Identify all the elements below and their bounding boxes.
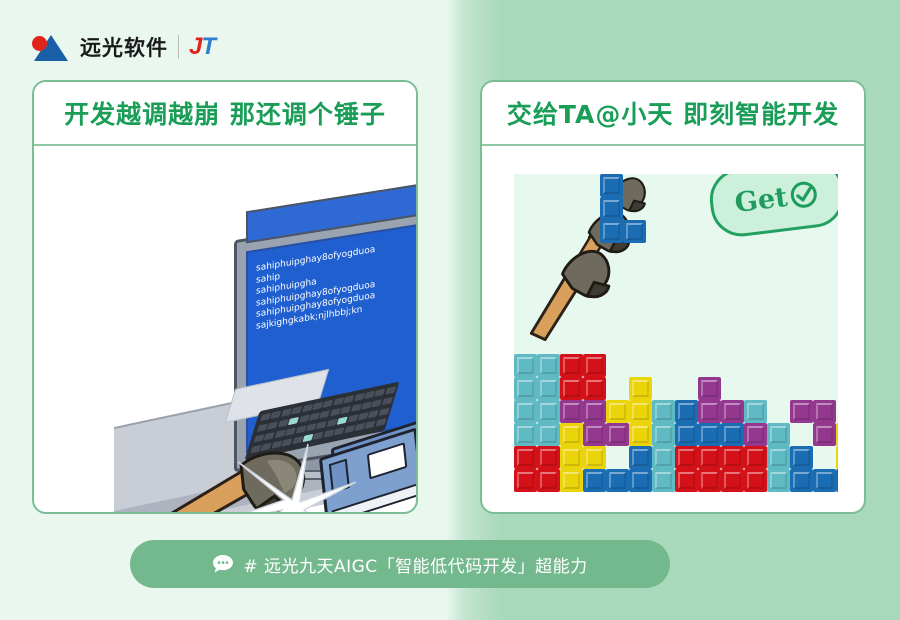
keyboard-key <box>371 399 382 407</box>
keyboard-key <box>375 418 386 426</box>
tetris-cell <box>721 469 744 492</box>
tetris-cell <box>744 423 767 446</box>
tetris-cell <box>836 469 838 492</box>
tetris-cell <box>583 377 606 400</box>
keyboard-key <box>291 406 302 414</box>
tetris-cell <box>813 400 836 423</box>
keyboard-key <box>285 428 296 436</box>
desk-scene: sahiphuipghay8ofyogduoasahipsahiphuipgha… <box>34 146 416 514</box>
card-problem-title-bar: 开发越调越崩 那还调个锤子 <box>34 82 416 146</box>
tetris-cell <box>652 400 675 423</box>
tetris-stack <box>514 354 836 492</box>
hashtag-banner-text: # 远光九天AIGC「智能低代码开发」超能力 <box>243 552 587 577</box>
keyboard-key <box>333 397 344 405</box>
keyboard-key <box>271 411 282 419</box>
tetris-cell <box>767 469 790 492</box>
keyboard-key <box>354 423 365 431</box>
keyboard-key <box>257 423 268 431</box>
tetris-cell <box>583 469 606 492</box>
jt-letter-t: T <box>201 33 215 60</box>
tetris-cell <box>560 446 583 469</box>
tetris-cell <box>514 377 537 400</box>
tetris-cell <box>583 446 606 469</box>
tetris-cell <box>721 400 744 423</box>
tetris-cell <box>560 469 583 492</box>
keyboard-key <box>260 413 271 421</box>
hashtag-banner[interactable]: # 远光九天AIGC「智能低代码开发」超能力 <box>130 540 670 588</box>
tetris-cell <box>721 423 744 446</box>
tetris-cell <box>698 400 721 423</box>
tetris-cell <box>698 423 721 446</box>
tetris-cell <box>744 400 767 423</box>
tetris-cell <box>606 469 629 492</box>
tetris-cell <box>537 446 560 469</box>
book-label <box>367 442 408 479</box>
tetris-cell <box>583 400 606 423</box>
keyboard-key <box>361 401 372 409</box>
keyboard-key <box>340 406 351 414</box>
tetris-cell <box>629 446 652 469</box>
keyboard-key <box>323 429 334 437</box>
card-problem-illustration: sahiphuipghay8ofyogduoasahipsahiphuipgha… <box>34 146 416 514</box>
card-solution-title: 交给TA@小天 即刻智能开发 <box>507 95 839 131</box>
jt-letter-j: J <box>189 33 201 60</box>
tetris-cell <box>583 354 606 377</box>
keyboard-key <box>364 391 375 399</box>
tetris-cell <box>629 400 652 423</box>
tetris-cell <box>629 423 652 446</box>
tetris-cell <box>675 400 698 423</box>
keyboard-key <box>365 421 376 429</box>
keyboard-key <box>299 415 310 423</box>
keyboard-key <box>351 404 362 412</box>
keyboard-key <box>354 393 365 401</box>
tetris-cell <box>514 354 537 377</box>
tetris-cell <box>537 377 560 400</box>
tetris-cell <box>629 377 652 400</box>
keyboard-key <box>281 408 292 416</box>
keyboard-key <box>327 419 338 427</box>
tetris-cell <box>514 446 537 469</box>
red-dot-icon <box>32 36 47 51</box>
brand-name-cn: 远光软件 <box>80 32 168 62</box>
tetris-cell <box>813 469 836 492</box>
jt-logo: JT <box>189 33 215 61</box>
tetris-cell <box>790 400 813 423</box>
keyboard-key <box>316 421 327 429</box>
tetris-cell <box>790 469 813 492</box>
tetris-cell <box>537 469 560 492</box>
yuanguang-mark-icon <box>30 33 70 61</box>
tetris-cell <box>600 197 623 220</box>
card-solution-title-bar: 交给TA@小天 即刻智能开发 <box>482 82 864 146</box>
keyboard-key <box>278 419 289 427</box>
keyboard-key <box>306 423 317 431</box>
tetris-cell <box>560 423 583 446</box>
tetris-cell <box>652 469 675 492</box>
tetris-cell <box>836 446 838 469</box>
tetris-cell <box>537 354 560 377</box>
tetris-cell <box>836 423 838 446</box>
keyboard-key <box>295 425 306 433</box>
keyboard-key <box>379 408 390 416</box>
tetris-cell <box>698 446 721 469</box>
keyboard-key <box>319 410 330 418</box>
tetris-cell <box>675 469 698 492</box>
tetris-cell <box>600 174 623 197</box>
get-stamp-badge: Get <box>706 174 838 240</box>
brand-logo: 远光软件 JT <box>30 30 215 64</box>
keyboard-key <box>334 427 345 435</box>
keyboard-key <box>368 410 379 418</box>
tetris-cell <box>583 423 606 446</box>
tetris-cell <box>767 423 790 446</box>
tetris-cell <box>606 400 629 423</box>
keyboard-key <box>302 404 313 412</box>
tetris-cell <box>744 469 767 492</box>
keyboard-key <box>347 414 358 422</box>
tetris-cell <box>514 400 537 423</box>
tetris-cell <box>744 446 767 469</box>
tetris-cell <box>698 469 721 492</box>
tetris-cell <box>813 423 836 446</box>
tetris-cell <box>560 377 583 400</box>
tetris-cell <box>537 400 560 423</box>
tetris-cell <box>600 220 623 243</box>
tetris-cell <box>675 446 698 469</box>
keyboard-key <box>344 425 355 433</box>
keyboard-key <box>382 397 393 405</box>
tetris-cell <box>652 423 675 446</box>
tetris-cell <box>606 423 629 446</box>
screen-code-lines: sahiphuipghay8ofyogduoasahipsahiphuipgha… <box>256 238 416 333</box>
keyboard-key <box>323 400 334 408</box>
tetris-cell <box>629 469 652 492</box>
keyboard-key <box>385 386 396 394</box>
tetris-cell <box>675 423 698 446</box>
tetris-cell <box>698 377 721 400</box>
keyboard-key <box>312 402 323 410</box>
tetris-cell <box>560 400 583 423</box>
tetris-cell <box>514 469 537 492</box>
keyboard-key <box>264 432 275 440</box>
keyboard-key <box>309 412 320 420</box>
keyboard-key <box>343 395 354 403</box>
speech-bubble-icon <box>212 554 234 574</box>
card-solution-illustration: Get <box>482 146 864 514</box>
card-problem-title: 开发越调越崩 那还调个锤子 <box>64 95 386 131</box>
keyboard-key <box>375 388 386 396</box>
keyboard-key <box>275 430 286 438</box>
tetris-cell <box>537 423 560 446</box>
tetris-cell <box>721 446 744 469</box>
tetris-cell <box>623 220 646 243</box>
logo-divider <box>178 35 179 59</box>
keyboard-key <box>313 432 324 440</box>
keyboard-key <box>330 408 341 416</box>
keyboard-key <box>337 417 348 425</box>
keyboard-key <box>267 421 278 429</box>
tetris-cell <box>790 446 813 469</box>
tetris-cell <box>560 354 583 377</box>
tetris-game-area: Get <box>514 174 838 492</box>
get-stamp-label: Get <box>733 181 789 218</box>
tetris-cell <box>514 423 537 446</box>
card-solution: 交给TA@小天 即刻智能开发 Get <box>480 80 866 514</box>
tetris-cell <box>767 446 790 469</box>
card-problem: 开发越调越崩 那还调个锤子 sahiphuipghay8ofyogduoasah… <box>32 80 418 514</box>
keyboard-key <box>288 417 299 425</box>
impact-sparkle-icon <box>204 442 364 514</box>
tetris-cell <box>652 446 675 469</box>
check-circle-icon <box>787 178 820 211</box>
keyboard-key <box>358 412 369 420</box>
